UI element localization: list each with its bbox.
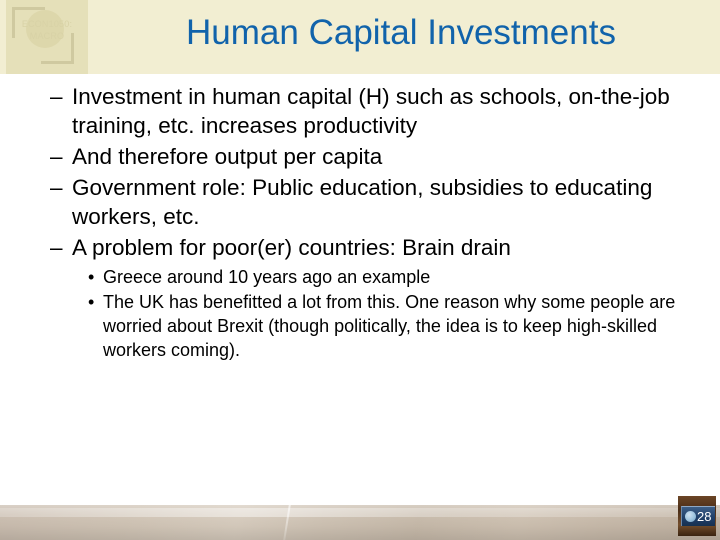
slide: ECON1050: MACRO Human Capital Investment… <box>0 0 720 540</box>
course-logo: ECON1050: MACRO <box>6 0 88 74</box>
slide-number-badge: 28 <box>678 496 716 536</box>
sub-list-item-text: The UK has benefitted a lot from this. O… <box>103 290 710 362</box>
page-title: Human Capital Investments <box>96 11 706 55</box>
bullet-dash-icon: – <box>50 82 63 111</box>
course-logo-text: ECON1050: MACRO <box>6 18 88 42</box>
bullet-dash-icon: – <box>50 142 63 171</box>
course-logo-line1: ECON1050: <box>22 19 72 29</box>
list-item: – Government role: Public education, sub… <box>50 173 710 231</box>
bullet-dot-icon: • <box>88 265 94 289</box>
list-item: – And therefore output per capita <box>50 142 710 171</box>
list-item: – Investment in human capital (H) such a… <box>50 82 710 140</box>
bullet-dash-icon: – <box>50 233 63 262</box>
slide-body: – Investment in human capital (H) such a… <box>0 74 720 505</box>
bullet-dash-icon: – <box>50 173 63 202</box>
slide-number-text: 28 <box>697 508 711 525</box>
sub-list-item: • Greece around 10 years ago an example <box>88 265 710 289</box>
sub-bullet-list: • Greece around 10 years ago an example … <box>50 265 710 362</box>
list-item: – A problem for poor(er) countries: Brai… <box>50 233 710 262</box>
footer-sheen <box>0 508 720 517</box>
list-item-text: And therefore output per capita <box>72 142 710 171</box>
list-item-text: A problem for poor(er) countries: Brain … <box>72 233 710 262</box>
list-item-text: Investment in human capital (H) such as … <box>72 82 710 140</box>
course-logo-line2: MACRO <box>6 30 88 42</box>
sub-list-item-text: Greece around 10 years ago an example <box>103 265 710 289</box>
sub-list-item: • The UK has benefitted a lot from this.… <box>88 290 710 362</box>
bullet-list: – Investment in human capital (H) such a… <box>50 82 710 363</box>
list-item-text: Government role: Public education, subsi… <box>72 173 710 231</box>
slide-number-dot-icon <box>685 511 696 522</box>
slide-number-inner: 28 <box>681 506 715 526</box>
bullet-dot-icon: • <box>88 290 94 314</box>
footer-band <box>0 505 720 540</box>
